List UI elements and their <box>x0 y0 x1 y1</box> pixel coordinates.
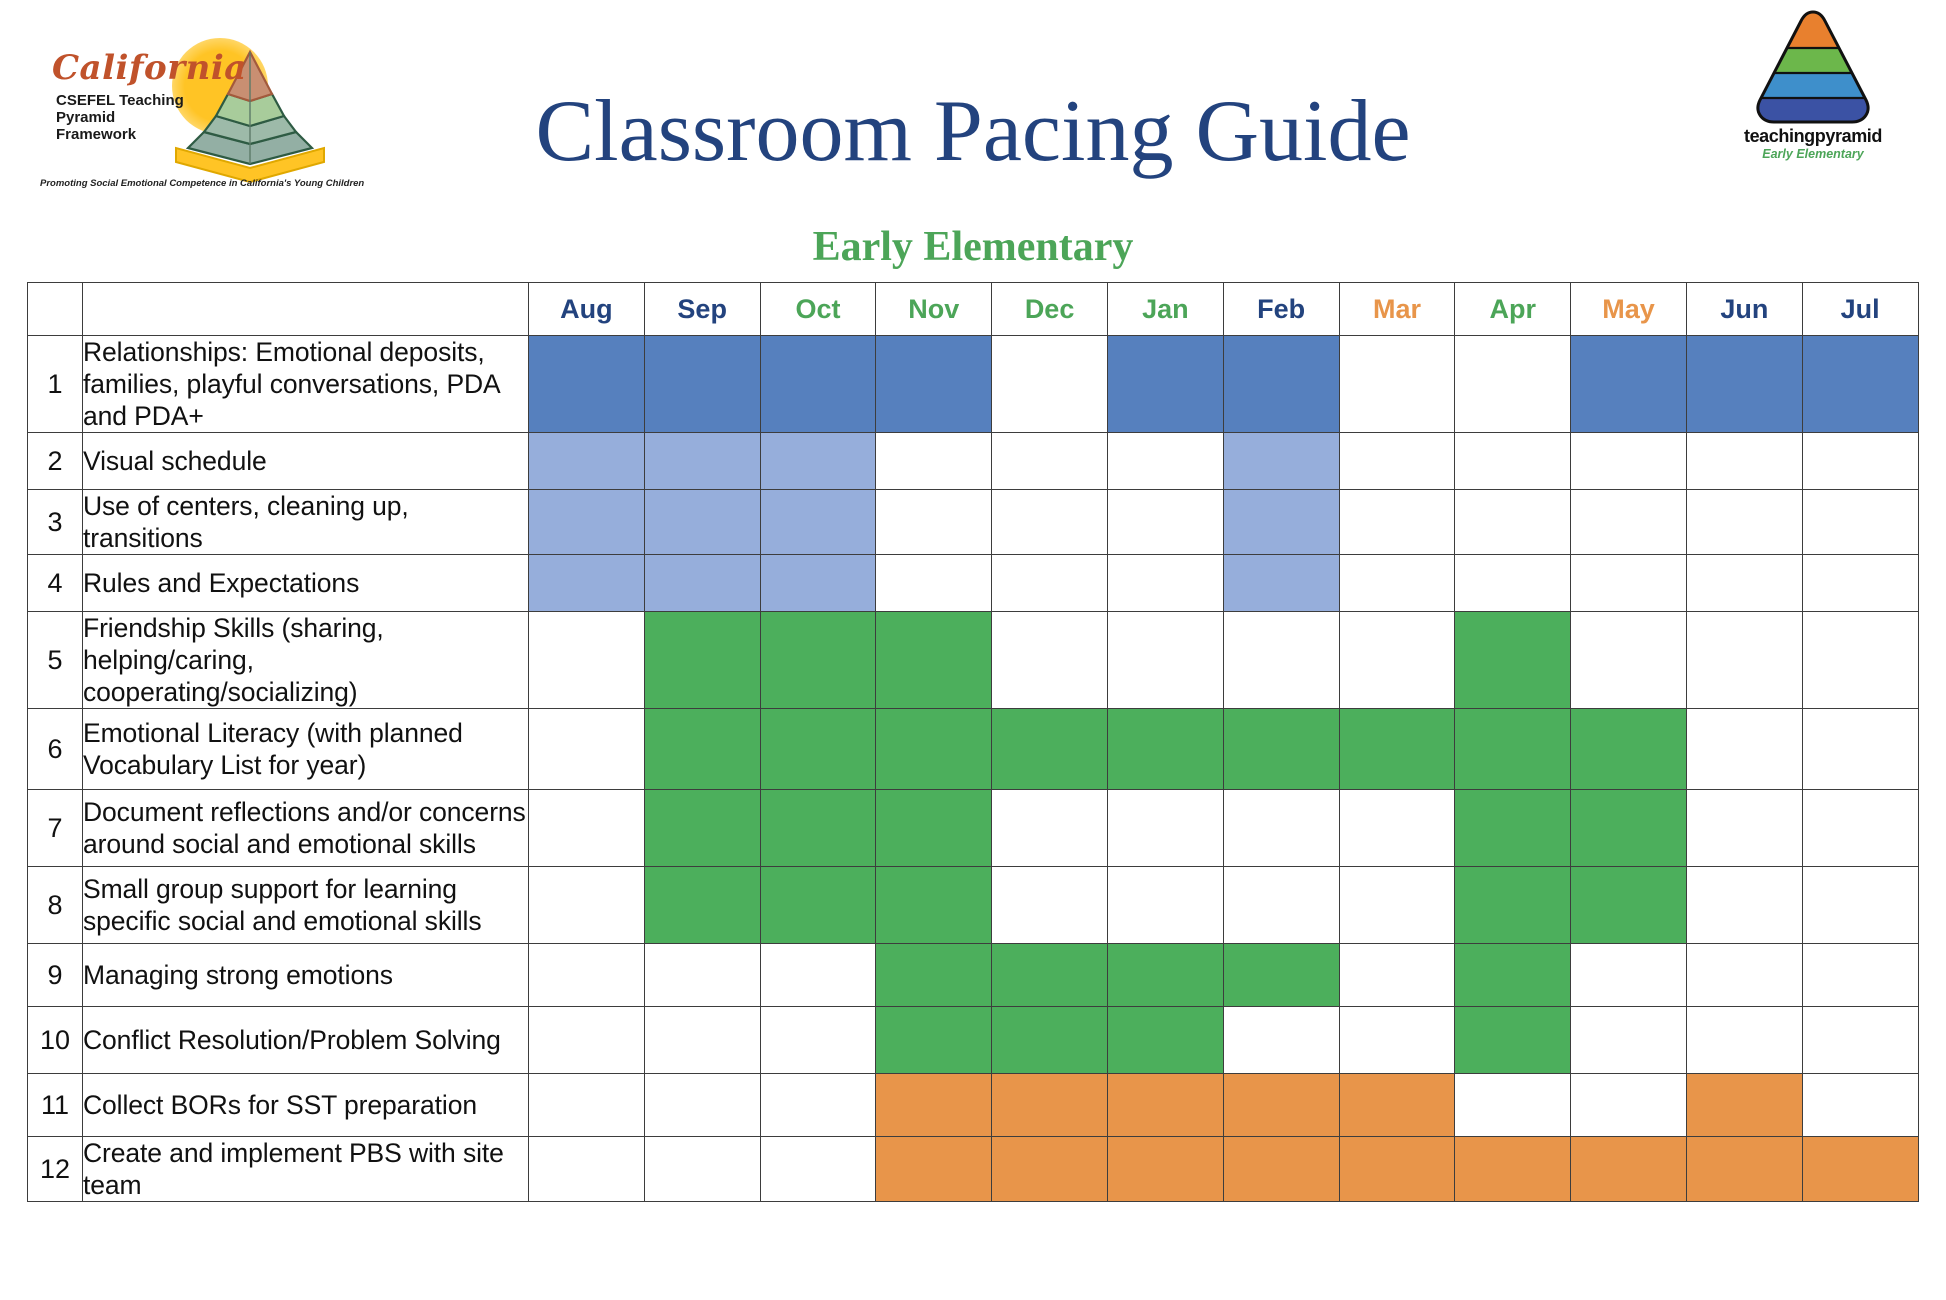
table-row: 11Collect BORs for SST preparation <box>28 1074 1919 1137</box>
row-task-label: Conflict Resolution/Problem Solving <box>83 1007 529 1074</box>
table-row: 5Friendship Skills (sharing, helping/car… <box>28 612 1919 709</box>
cell-r8-nov-filled[interactable] <box>876 867 992 944</box>
row-number: 5 <box>28 612 83 709</box>
row-number: 12 <box>28 1137 83 1202</box>
cell-r8-jan-empty[interactable] <box>1107 867 1223 944</box>
cell-r9-jun-empty[interactable] <box>1686 944 1802 1007</box>
cell-r12-sep-empty[interactable] <box>644 1137 760 1202</box>
cell-r12-jul-filled[interactable] <box>1802 1137 1918 1202</box>
cell-r3-may-empty[interactable] <box>1571 490 1687 555</box>
teaching-pyramid-logo: teachingpyramid Early Elementary <box>1718 8 1908 173</box>
row-number: 3 <box>28 490 83 555</box>
cell-r1-sep-filled[interactable] <box>644 336 760 433</box>
cell-r5-aug-empty[interactable] <box>529 612 645 709</box>
cell-r1-mar-empty[interactable] <box>1339 336 1455 433</box>
cell-r2-aug-filled[interactable] <box>529 433 645 490</box>
cell-r2-apr-empty[interactable] <box>1455 433 1571 490</box>
cell-r10-nov-filled[interactable] <box>876 1007 992 1074</box>
cell-r1-feb-filled[interactable] <box>1223 336 1339 433</box>
header-row: AugSepOctNovDecJanFebMarAprMayJunJul <box>28 283 1919 336</box>
cell-r1-jun-filled[interactable] <box>1686 336 1802 433</box>
cell-r8-mar-empty[interactable] <box>1339 867 1455 944</box>
month-header-apr[interactable]: Apr <box>1455 283 1571 336</box>
cell-r2-jun-empty[interactable] <box>1686 433 1802 490</box>
month-header-feb[interactable]: Feb <box>1223 283 1339 336</box>
row-task-label: Create and implement PBS with site team <box>83 1137 529 1202</box>
cell-r4-jul-empty[interactable] <box>1802 555 1918 612</box>
teachingpyramid-subtitle: Early Elementary <box>1718 147 1908 161</box>
cell-r1-nov-filled[interactable] <box>876 336 992 433</box>
month-header-sep[interactable]: Sep <box>644 283 760 336</box>
cell-r6-feb-filled[interactable] <box>1223 709 1339 790</box>
cell-r7-jul-empty[interactable] <box>1802 790 1918 867</box>
cell-r3-jun-empty[interactable] <box>1686 490 1802 555</box>
cell-r7-mar-empty[interactable] <box>1339 790 1455 867</box>
cell-r1-jul-filled[interactable] <box>1802 336 1918 433</box>
table-row: 2Visual schedule <box>28 433 1919 490</box>
row-task-label: Collect BORs for SST preparation <box>83 1074 529 1137</box>
cell-r12-may-filled[interactable] <box>1571 1137 1687 1202</box>
table-row: 12Create and implement PBS with site tea… <box>28 1137 1919 1202</box>
row-task-label: Visual schedule <box>83 433 529 490</box>
row-task-label: Friendship Skills (sharing, helping/cari… <box>83 612 529 709</box>
cell-r6-aug-empty[interactable] <box>529 709 645 790</box>
cell-r8-aug-empty[interactable] <box>529 867 645 944</box>
cell-r4-sep-filled[interactable] <box>644 555 760 612</box>
cell-r4-nov-empty[interactable] <box>876 555 992 612</box>
row-number: 6 <box>28 709 83 790</box>
cell-r9-aug-empty[interactable] <box>529 944 645 1007</box>
cell-r1-may-filled[interactable] <box>1571 336 1687 433</box>
cell-r8-may-filled[interactable] <box>1571 867 1687 944</box>
cell-r6-mar-filled[interactable] <box>1339 709 1455 790</box>
rounded-pyramid-icon <box>1750 8 1876 128</box>
cell-r9-oct-empty[interactable] <box>760 944 876 1007</box>
cell-r5-dec-empty[interactable] <box>992 612 1108 709</box>
cell-r10-may-empty[interactable] <box>1571 1007 1687 1074</box>
cell-r2-may-empty[interactable] <box>1571 433 1687 490</box>
cell-r5-jan-empty[interactable] <box>1107 612 1223 709</box>
cell-r7-jan-empty[interactable] <box>1107 790 1223 867</box>
cell-r5-sep-filled[interactable] <box>644 612 760 709</box>
cell-r10-oct-empty[interactable] <box>760 1007 876 1074</box>
cell-r2-jan-empty[interactable] <box>1107 433 1223 490</box>
cell-r8-oct-filled[interactable] <box>760 867 876 944</box>
cell-r8-jul-empty[interactable] <box>1802 867 1918 944</box>
cell-r7-aug-empty[interactable] <box>529 790 645 867</box>
month-header-may[interactable]: May <box>1571 283 1687 336</box>
cell-r6-jan-filled[interactable] <box>1107 709 1223 790</box>
cell-r5-may-empty[interactable] <box>1571 612 1687 709</box>
cell-r5-apr-filled[interactable] <box>1455 612 1571 709</box>
cell-r4-oct-filled[interactable] <box>760 555 876 612</box>
table-row: 3Use of centers, cleaning up, transition… <box>28 490 1919 555</box>
cell-r5-jun-empty[interactable] <box>1686 612 1802 709</box>
cell-r3-apr-empty[interactable] <box>1455 490 1571 555</box>
cell-r10-aug-empty[interactable] <box>529 1007 645 1074</box>
cell-r3-feb-filled[interactable] <box>1223 490 1339 555</box>
cell-r3-oct-filled[interactable] <box>760 490 876 555</box>
cell-r12-dec-filled[interactable] <box>992 1137 1108 1202</box>
cell-r3-mar-empty[interactable] <box>1339 490 1455 555</box>
cell-r11-jun-filled[interactable] <box>1686 1074 1802 1137</box>
table-header: AugSepOctNovDecJanFebMarAprMayJunJul <box>28 283 1919 336</box>
cell-r7-nov-filled[interactable] <box>876 790 992 867</box>
cell-r4-apr-empty[interactable] <box>1455 555 1571 612</box>
cell-r5-oct-filled[interactable] <box>760 612 876 709</box>
cell-r12-aug-empty[interactable] <box>529 1137 645 1202</box>
cell-r4-feb-filled[interactable] <box>1223 555 1339 612</box>
page-subtitle: Early Elementary <box>0 224 1946 270</box>
cell-r4-dec-empty[interactable] <box>992 555 1108 612</box>
table-row: 4Rules and Expectations <box>28 555 1919 612</box>
cell-r1-aug-filled[interactable] <box>529 336 645 433</box>
cell-r12-mar-filled[interactable] <box>1339 1137 1455 1202</box>
row-task-label: Managing strong emotions <box>83 944 529 1007</box>
month-header-mar[interactable]: Mar <box>1339 283 1455 336</box>
cell-r1-oct-filled[interactable] <box>760 336 876 433</box>
cell-r10-mar-empty[interactable] <box>1339 1007 1455 1074</box>
cell-r3-nov-empty[interactable] <box>876 490 992 555</box>
cell-r11-feb-filled[interactable] <box>1223 1074 1339 1137</box>
cell-r11-oct-empty[interactable] <box>760 1074 876 1137</box>
cell-r12-feb-filled[interactable] <box>1223 1137 1339 1202</box>
cell-r11-apr-empty[interactable] <box>1455 1074 1571 1137</box>
pacing-guide-table-wrapper: AugSepOctNovDecJanFebMarAprMayJunJul 1Re… <box>27 282 1918 1202</box>
month-header-jun[interactable]: Jun <box>1686 283 1802 336</box>
table-row: 9Managing strong emotions <box>28 944 1919 1007</box>
row-number: 10 <box>28 1007 83 1074</box>
cell-r5-jul-empty[interactable] <box>1802 612 1918 709</box>
page-title: Classroom Pacing Guide <box>0 86 1946 178</box>
cell-r12-apr-filled[interactable] <box>1455 1137 1571 1202</box>
month-header-jul[interactable]: Jul <box>1802 283 1918 336</box>
cell-r8-apr-filled[interactable] <box>1455 867 1571 944</box>
cell-r4-mar-empty[interactable] <box>1339 555 1455 612</box>
cell-r1-jan-filled[interactable] <box>1107 336 1223 433</box>
cell-r9-apr-filled[interactable] <box>1455 944 1571 1007</box>
table-row: 8Small group support for learning specif… <box>28 867 1919 944</box>
cell-r9-mar-empty[interactable] <box>1339 944 1455 1007</box>
cell-r3-jul-empty[interactable] <box>1802 490 1918 555</box>
cell-r9-sep-empty[interactable] <box>644 944 760 1007</box>
title-block: Classroom Pacing Guide Early Elementary <box>0 0 1946 228</box>
header-blank-task <box>83 283 529 336</box>
cell-r5-mar-empty[interactable] <box>1339 612 1455 709</box>
cell-r3-jan-empty[interactable] <box>1107 490 1223 555</box>
page-header: California CSEFEL Teaching Pyramid Frame… <box>0 0 1946 228</box>
cell-r7-dec-empty[interactable] <box>992 790 1108 867</box>
cell-r6-jun-empty[interactable] <box>1686 709 1802 790</box>
row-number: 8 <box>28 867 83 944</box>
cell-r10-feb-empty[interactable] <box>1223 1007 1339 1074</box>
cell-r11-nov-filled[interactable] <box>876 1074 992 1137</box>
cell-r12-nov-filled[interactable] <box>876 1137 992 1202</box>
cell-r9-may-empty[interactable] <box>1571 944 1687 1007</box>
table-row: 1Relationships: Emotional deposits, fami… <box>28 336 1919 433</box>
cell-r5-nov-filled[interactable] <box>876 612 992 709</box>
cell-r6-may-filled[interactable] <box>1571 709 1687 790</box>
header-blank-number <box>28 283 83 336</box>
cell-r2-mar-empty[interactable] <box>1339 433 1455 490</box>
row-number: 4 <box>28 555 83 612</box>
cell-r9-jan-filled[interactable] <box>1107 944 1223 1007</box>
row-number: 11 <box>28 1074 83 1137</box>
cell-r9-nov-filled[interactable] <box>876 944 992 1007</box>
row-task-label: Rules and Expectations <box>83 555 529 612</box>
cell-r7-oct-filled[interactable] <box>760 790 876 867</box>
cell-r10-jul-empty[interactable] <box>1802 1007 1918 1074</box>
cell-r8-sep-filled[interactable] <box>644 867 760 944</box>
cell-r8-feb-empty[interactable] <box>1223 867 1339 944</box>
row-number: 7 <box>28 790 83 867</box>
row-number: 2 <box>28 433 83 490</box>
cell-r7-jun-empty[interactable] <box>1686 790 1802 867</box>
cell-r7-feb-empty[interactable] <box>1223 790 1339 867</box>
cell-r6-dec-filled[interactable] <box>992 709 1108 790</box>
cell-r6-jul-empty[interactable] <box>1802 709 1918 790</box>
cell-r10-apr-filled[interactable] <box>1455 1007 1571 1074</box>
row-number: 1 <box>28 336 83 433</box>
cell-r4-jan-empty[interactable] <box>1107 555 1223 612</box>
cell-r4-jun-empty[interactable] <box>1686 555 1802 612</box>
cell-r2-dec-empty[interactable] <box>992 433 1108 490</box>
cell-r7-apr-filled[interactable] <box>1455 790 1571 867</box>
row-task-label: Emotional Literacy (with planned Vocabul… <box>83 709 529 790</box>
cell-r2-nov-empty[interactable] <box>876 433 992 490</box>
cell-r11-jul-empty[interactable] <box>1802 1074 1918 1137</box>
month-header-aug[interactable]: Aug <box>529 283 645 336</box>
cell-r2-sep-filled[interactable] <box>644 433 760 490</box>
row-task-label: Document reflections and/or concerns aro… <box>83 790 529 867</box>
cell-r6-sep-filled[interactable] <box>644 709 760 790</box>
table-row: 6Emotional Literacy (with planned Vocabu… <box>28 709 1919 790</box>
cell-r12-jun-filled[interactable] <box>1686 1137 1802 1202</box>
cell-r3-dec-empty[interactable] <box>992 490 1108 555</box>
table-row: 10Conflict Resolution/Problem Solving <box>28 1007 1919 1074</box>
cell-r2-jul-empty[interactable] <box>1802 433 1918 490</box>
cell-r2-feb-filled[interactable] <box>1223 433 1339 490</box>
cell-r1-apr-empty[interactable] <box>1455 336 1571 433</box>
table-row: 7Document reflections and/or concerns ar… <box>28 790 1919 867</box>
cell-r11-jan-filled[interactable] <box>1107 1074 1223 1137</box>
cell-r9-feb-filled[interactable] <box>1223 944 1339 1007</box>
row-task-label: Small group support for learning specifi… <box>83 867 529 944</box>
cell-r7-may-filled[interactable] <box>1571 790 1687 867</box>
pacing-guide-table: AugSepOctNovDecJanFebMarAprMayJunJul 1Re… <box>27 282 1919 1202</box>
cell-r8-jun-empty[interactable] <box>1686 867 1802 944</box>
cell-r6-apr-filled[interactable] <box>1455 709 1571 790</box>
teachingpyramid-wordmark: teachingpyramid <box>1718 126 1908 147</box>
cell-r5-feb-empty[interactable] <box>1223 612 1339 709</box>
cell-r3-aug-filled[interactable] <box>529 490 645 555</box>
cell-r2-oct-filled[interactable] <box>760 433 876 490</box>
cell-r9-jul-empty[interactable] <box>1802 944 1918 1007</box>
cell-r10-dec-filled[interactable] <box>992 1007 1108 1074</box>
cell-r4-may-empty[interactable] <box>1571 555 1687 612</box>
cell-r10-jun-empty[interactable] <box>1686 1007 1802 1074</box>
cell-r11-sep-empty[interactable] <box>644 1074 760 1137</box>
table-body: 1Relationships: Emotional deposits, fami… <box>28 336 1919 1202</box>
cell-r12-jan-filled[interactable] <box>1107 1137 1223 1202</box>
cell-r3-sep-filled[interactable] <box>644 490 760 555</box>
cell-r9-dec-filled[interactable] <box>992 944 1108 1007</box>
cell-r4-aug-filled[interactable] <box>529 555 645 612</box>
cell-r10-jan-filled[interactable] <box>1107 1007 1223 1074</box>
cell-r10-sep-empty[interactable] <box>644 1007 760 1074</box>
row-number: 9 <box>28 944 83 1007</box>
cell-r11-aug-empty[interactable] <box>529 1074 645 1137</box>
month-header-nov[interactable]: Nov <box>876 283 992 336</box>
cell-r11-may-empty[interactable] <box>1571 1074 1687 1137</box>
row-task-label: Relationships: Emotional deposits, famil… <box>83 336 529 433</box>
cell-r11-dec-filled[interactable] <box>992 1074 1108 1137</box>
cell-r6-oct-filled[interactable] <box>760 709 876 790</box>
month-header-jan[interactable]: Jan <box>1107 283 1223 336</box>
month-header-dec[interactable]: Dec <box>992 283 1108 336</box>
cell-r12-oct-empty[interactable] <box>760 1137 876 1202</box>
row-task-label: Use of centers, cleaning up, transitions <box>83 490 529 555</box>
cell-r8-dec-empty[interactable] <box>992 867 1108 944</box>
cell-r1-dec-empty[interactable] <box>992 336 1108 433</box>
month-header-oct[interactable]: Oct <box>760 283 876 336</box>
cell-r11-mar-filled[interactable] <box>1339 1074 1455 1137</box>
cell-r6-nov-filled[interactable] <box>876 709 992 790</box>
cell-r7-sep-filled[interactable] <box>644 790 760 867</box>
